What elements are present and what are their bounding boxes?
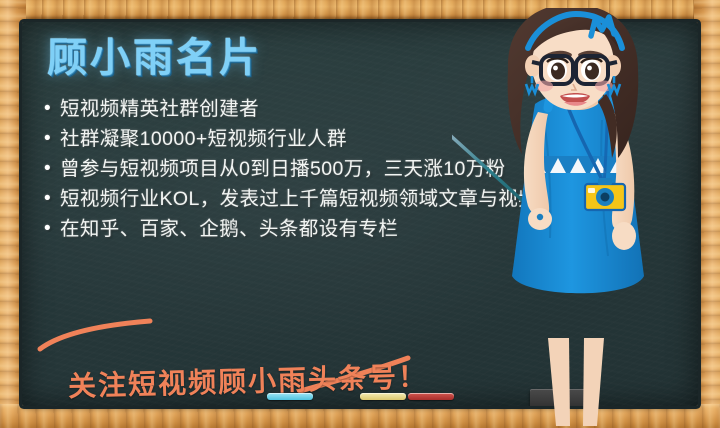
bullet-dot-icon: • <box>44 154 60 184</box>
chalk-blue <box>267 393 313 400</box>
character-illustration <box>452 8 720 428</box>
chalk-yellow <box>360 393 406 400</box>
bullet-dot-icon: • <box>44 124 60 154</box>
bullet-dot-icon: • <box>44 214 60 244</box>
character-legs <box>548 338 604 426</box>
chalk-red <box>408 393 454 400</box>
character-hand-right <box>612 222 636 250</box>
bullet-dot-icon: • <box>44 184 60 214</box>
poster-canvas: 顾小雨名片 • 短视频精英社群创建者 • 社群凝聚10000+短视频行业人群 •… <box>0 0 720 428</box>
bullet-dot-icon: • <box>44 94 60 124</box>
page-title: 顾小雨名片 <box>47 38 262 78</box>
